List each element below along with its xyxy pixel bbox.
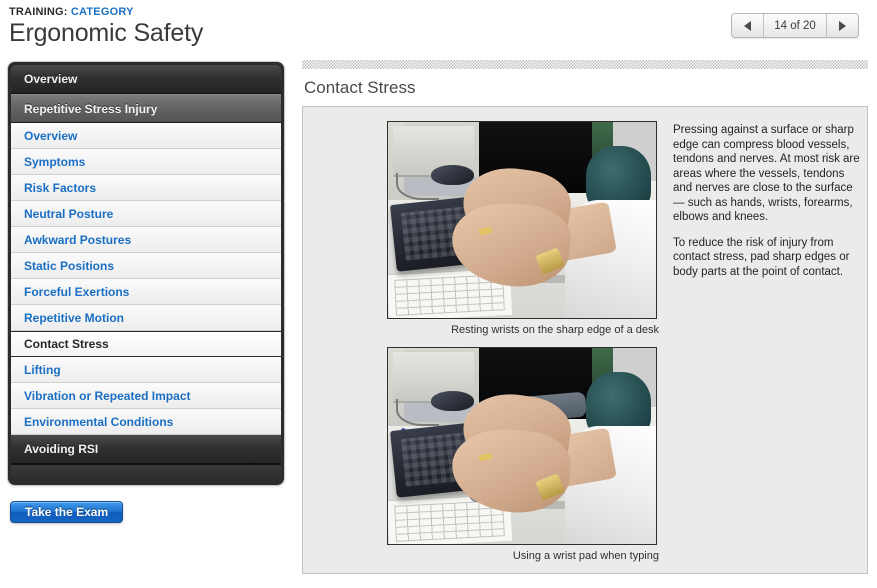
content-body-text: Pressing against a surface or sharp edge… (673, 123, 865, 290)
sidebar-item-lifting[interactable]: Lifting (11, 357, 281, 383)
breadcrumb-prefix: TRAINING: (9, 6, 68, 18)
content-panel: Resting wrists on the sharp edge of a de… (302, 106, 868, 574)
decorative-dotted-rule (302, 60, 868, 69)
content-area: Contact Stress (302, 60, 868, 574)
sidebar-item-neutral-posture[interactable]: Neutral Posture (11, 201, 281, 227)
sidebar-item-static-positions[interactable]: Static Positions (11, 253, 281, 279)
sidebar-section-avoiding-rsi[interactable]: Avoiding RSI (11, 435, 281, 464)
sidebar-item-environmental-conditions[interactable]: Environmental Conditions (11, 409, 281, 435)
body-paragraph: Pressing against a surface or sharp edge… (673, 123, 865, 225)
sidebar-item-awkward-postures[interactable]: Awkward Postures (11, 227, 281, 253)
previous-page-button[interactable] (732, 14, 764, 37)
nav-list: Overview Repetitive Stress Injury Overvi… (11, 65, 281, 482)
next-page-button[interactable] (826, 14, 858, 37)
sidebar-section-repetitive-stress-injury[interactable]: Repetitive Stress Injury (11, 94, 281, 123)
course-navigation-sidebar: Overview Repetitive Stress Injury Overvi… (8, 62, 284, 485)
sidebar-footer-strip (11, 464, 281, 482)
sidebar-item-repetitive-motion[interactable]: Repetitive Motion (11, 305, 281, 331)
triangle-right-icon (839, 21, 846, 31)
breadcrumb-category[interactable]: CATEGORY (71, 6, 134, 18)
figure-contact-stress-bad: Resting wrists on the sharp edge of a de… (387, 121, 659, 336)
figure-caption: Resting wrists on the sharp edge of a de… (387, 324, 659, 336)
figure-contact-stress-good: Using a wrist pad when typing (387, 347, 659, 562)
sidebar-item-overview[interactable]: Overview (11, 123, 281, 149)
body-paragraph: To reduce the risk of injury from contac… (673, 236, 865, 280)
triangle-left-icon (744, 21, 751, 31)
content-title: Contact Stress (304, 78, 868, 98)
photo-hands-typing-no-wrist-pad (387, 121, 657, 319)
sidebar-item-vibration-or-repeated-impact[interactable]: Vibration or Repeated Impact (11, 383, 281, 409)
photo-hands-typing-with-wrist-pad (387, 347, 657, 545)
sidebar-item-contact-stress[interactable]: Contact Stress (11, 331, 281, 357)
figure-caption: Using a wrist pad when typing (387, 550, 659, 562)
sidebar-item-forceful-exertions[interactable]: Forceful Exertions (11, 279, 281, 305)
take-the-exam-button[interactable]: Take the Exam (10, 501, 123, 523)
sidebar-section-overview[interactable]: Overview (11, 65, 281, 94)
page-indicator: 14 of 20 (764, 14, 826, 37)
sidebar-item-risk-factors[interactable]: Risk Factors (11, 175, 281, 201)
sidebar-item-symptoms[interactable]: Symptoms (11, 149, 281, 175)
pagination-control[interactable]: 14 of 20 (731, 13, 859, 38)
